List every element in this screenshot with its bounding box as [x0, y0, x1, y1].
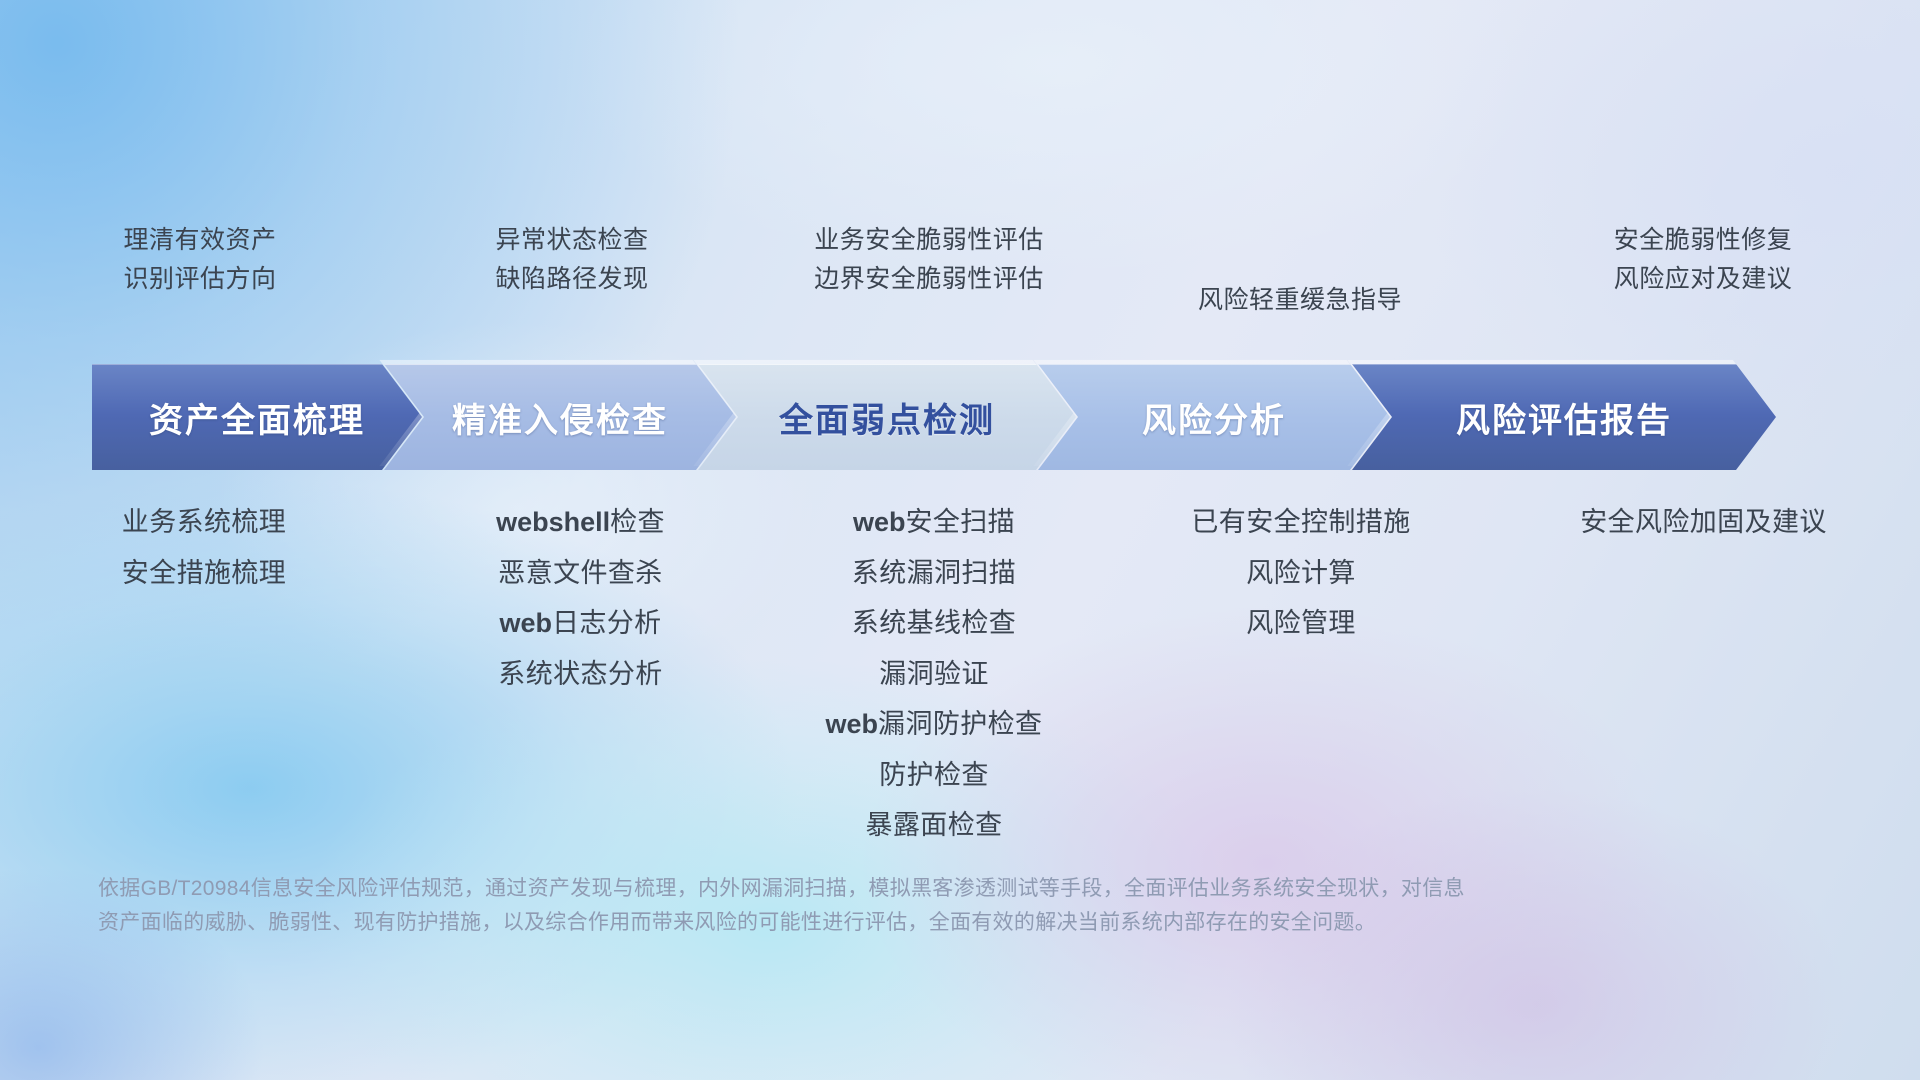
top-label-text: 缺陷路径发现 — [495, 267, 648, 292]
top-label-text: 理清有效资产 — [123, 228, 276, 253]
detail-item: 安全措施梳理 — [122, 556, 286, 591]
top-label-text: 异常状态检查 — [495, 228, 648, 253]
detail-item: 防护检查 — [879, 758, 989, 793]
detail-column-assessment-report: 安全风险加固及建议 — [1487, 505, 1920, 540]
detail-item: 漏洞验证 — [879, 657, 989, 692]
top-label-group-1: 理清有效资产 识别评估方向 — [0, 228, 400, 338]
stage-chevron-asset-inventory[interactable]: 资产全面梳理 — [92, 364, 422, 470]
footer-line-2: 资产面临的威胁、脆弱性、现有防护措施，以及综合作用而带来风险的可能性进行评估，全… — [98, 906, 1658, 940]
detail-item: web安全扫描 — [853, 505, 1015, 540]
top-label-text: 边界安全脆弱性评估 — [814, 267, 1044, 292]
detail-item: 业务系统梳理 — [122, 505, 286, 540]
detail-item: 已有安全控制措施 — [1191, 505, 1410, 540]
top-label-group-2: 异常状态检查 缺陷路径发现 — [400, 228, 744, 338]
diagram-canvas: 理清有效资产 识别评估方向 异常状态检查 缺陷路径发现 业务安全脆弱性评估 边界… — [0, 0, 1920, 1080]
detail-column-risk-analysis: 已有安全控制措施 风险计算 风险管理 — [1115, 505, 1487, 641]
detail-item: 系统基线检查 — [852, 606, 1016, 641]
detail-item: webshell检查 — [496, 505, 665, 540]
stage-label: 精准入侵检查 — [452, 393, 668, 442]
detail-column-weakness-detection: web安全扫描 系统漏洞扫描 系统基线检查 漏洞验证 web漏洞防护检查 防护检… — [753, 505, 1115, 843]
detail-item: 恶意文件查杀 — [498, 556, 662, 591]
top-label-group-4: 风险轻重缓急指导 — [1114, 228, 1486, 338]
stage-label: 风险评估报告 — [1456, 393, 1672, 442]
stage-chevron-risk-analysis[interactable]: 风险分析 — [1038, 364, 1390, 470]
detail-item: 暴露面检查 — [866, 808, 1003, 843]
stage-label: 风险分析 — [1142, 393, 1286, 442]
footer-description: 依据GB/T20984信息安全风险评估规范，通过资产发现与梳理，内外网漏洞扫描，… — [98, 872, 1658, 940]
stage-label: 资产全面梳理 — [149, 393, 365, 442]
detail-item: 风险管理 — [1246, 606, 1356, 641]
detail-column-asset-inventory: 业务系统梳理 安全措施梳理 — [0, 505, 408, 590]
detail-item: web日志分析 — [499, 606, 661, 641]
top-label-text: 安全脆弱性修复 — [1614, 228, 1793, 253]
top-label-text: 业务安全脆弱性评估 — [814, 228, 1044, 253]
stage-chevron-assessment-report[interactable]: 风险评估报告 — [1352, 364, 1776, 470]
footer-line-1: 依据GB/T20984信息安全风险评估规范，通过资产发现与梳理，内外网漏洞扫描，… — [98, 872, 1658, 906]
detail-item: 系统漏洞扫描 — [852, 556, 1016, 591]
stage-chevron-weakness-detection[interactable]: 全面弱点检测 — [698, 364, 1076, 470]
top-label-text: 识别评估方向 — [123, 267, 276, 292]
bottom-detail-row: 业务系统梳理 安全措施梳理 webshell检查 恶意文件查杀 web日志分析 … — [0, 505, 1920, 843]
process-chevron-band: 资产全面梳理 精准入侵检查 全面弱点检测 风险分析 风险评估报告 — [92, 364, 1852, 470]
detail-item: 安全风险加固及建议 — [1580, 505, 1827, 540]
top-label-group-5: 安全脆弱性修复 风险应对及建议 — [1486, 228, 1920, 338]
top-label-row: 理清有效资产 识别评估方向 异常状态检查 缺陷路径发现 业务安全脆弱性评估 边界… — [0, 228, 1920, 338]
detail-item: 风险计算 — [1246, 556, 1356, 591]
top-label-text: 风险应对及建议 — [1614, 267, 1793, 292]
stage-chevron-intrusion-check[interactable]: 精准入侵检查 — [384, 364, 736, 470]
stage-label: 全面弱点检测 — [779, 393, 995, 442]
detail-item: 系统状态分析 — [498, 657, 662, 692]
top-label-text: 风险轻重缓急指导 — [1198, 288, 1402, 313]
detail-column-intrusion-check: webshell检查 恶意文件查杀 web日志分析 系统状态分析 — [408, 505, 753, 691]
top-label-group-3: 业务安全脆弱性评估 边界安全脆弱性评估 — [744, 228, 1114, 338]
detail-item: web漏洞防护检查 — [826, 707, 1043, 742]
